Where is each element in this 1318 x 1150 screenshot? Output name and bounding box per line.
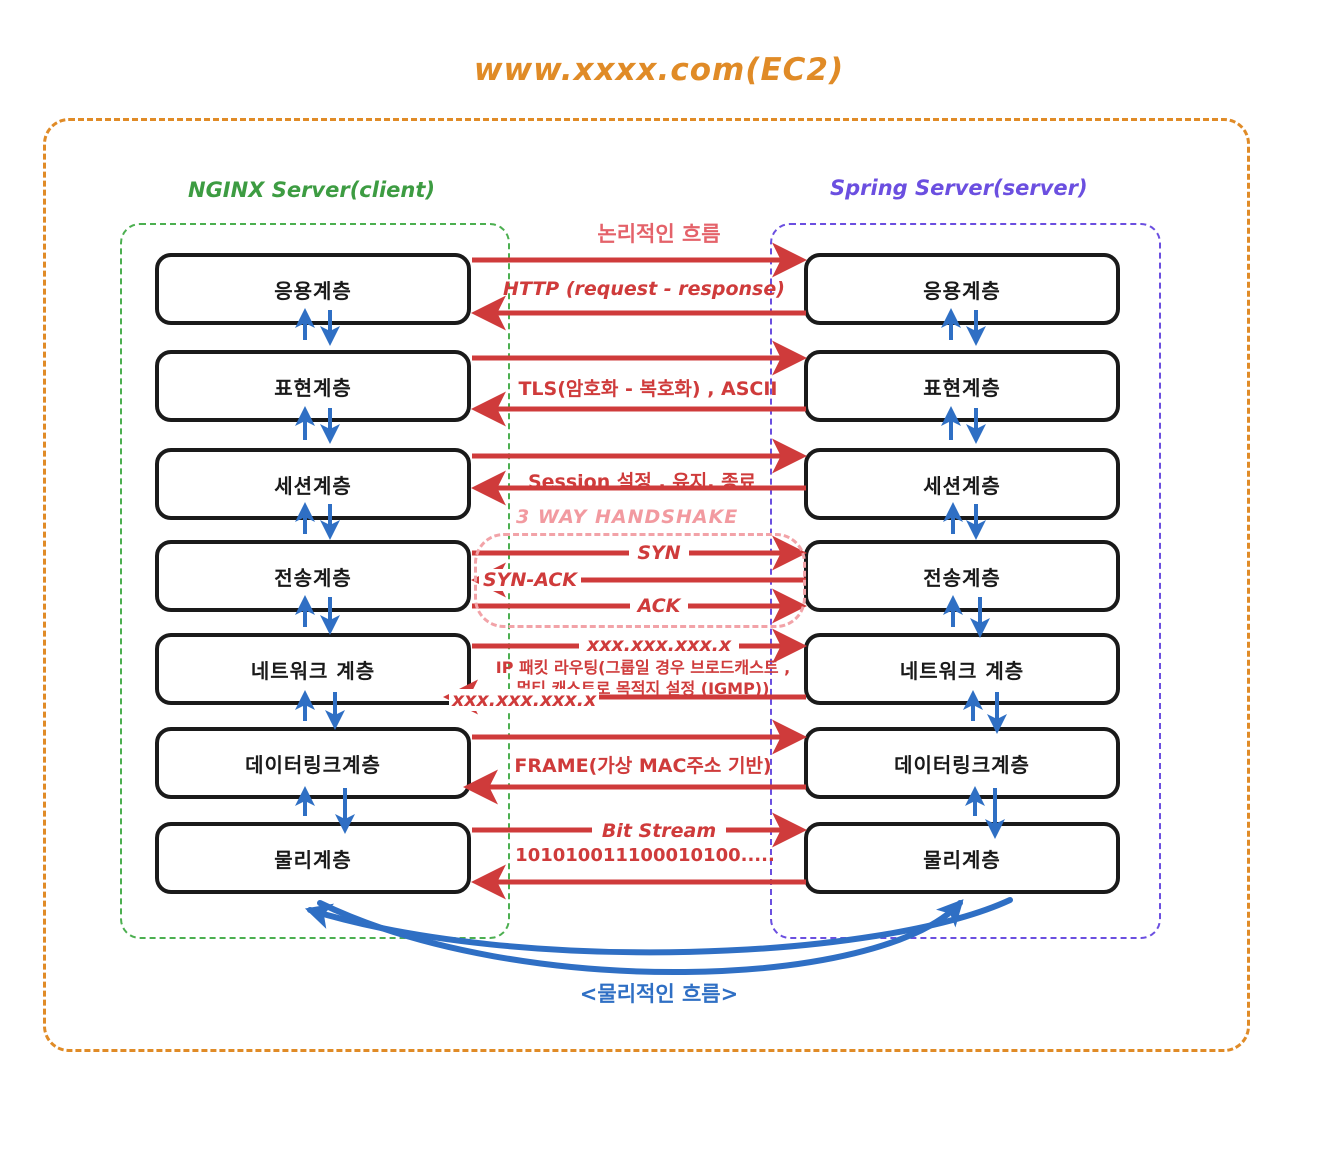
label-bitstream-bits: 101010011100010100.....: [490, 845, 800, 866]
server-layer-presentation: 표현계층: [804, 350, 1120, 422]
label-frame: FRAME(가상 MAC주소 기반): [483, 751, 803, 778]
label-ip-top: xxx.xxx.xxx.x: [579, 634, 739, 656]
server-layer-datalink: 데이터링크계층: [804, 727, 1120, 799]
client-layer-presentation: 표현계층: [155, 350, 471, 422]
server-label: Spring Server(server): [830, 176, 1088, 200]
client-layer-datalink: 데이터링크계층: [155, 727, 471, 799]
label-ip-bottom: xxx.xxx.xxx.x: [449, 689, 599, 711]
page-title: www.xxxx.com(EC2): [0, 52, 1318, 88]
label-syn-ack: SYN-ACK: [479, 569, 581, 591]
label-bitstream-title: Bit Stream: [592, 820, 726, 842]
server-layer-session: 세션계층: [804, 448, 1120, 520]
client-layer-application: 응용계층: [155, 253, 471, 325]
label-tls: TLS(암호화 - 복호화) , ASCII: [488, 374, 808, 401]
client-label: NGINX Server(client): [188, 178, 435, 202]
label-session: Session 설정 , 유지, 종료: [492, 467, 792, 494]
client-layer-session: 세션계층: [155, 448, 471, 520]
diagram-canvas: www.xxxx.com(EC2) NGINX Server(client) S…: [0, 0, 1318, 1150]
label-http: HTTP (request - response): [489, 278, 799, 300]
label-ack: ACK: [630, 595, 689, 617]
logical-flow-label: 논리적인 흐름: [0, 218, 1318, 248]
server-layer-application: 응용계층: [804, 253, 1120, 325]
physical-flow-label: <물리적인 흐름>: [0, 978, 1318, 1008]
label-handshake-title: 3 WAY HANDSHAKE: [516, 506, 738, 528]
label-syn: SYN: [629, 542, 688, 564]
